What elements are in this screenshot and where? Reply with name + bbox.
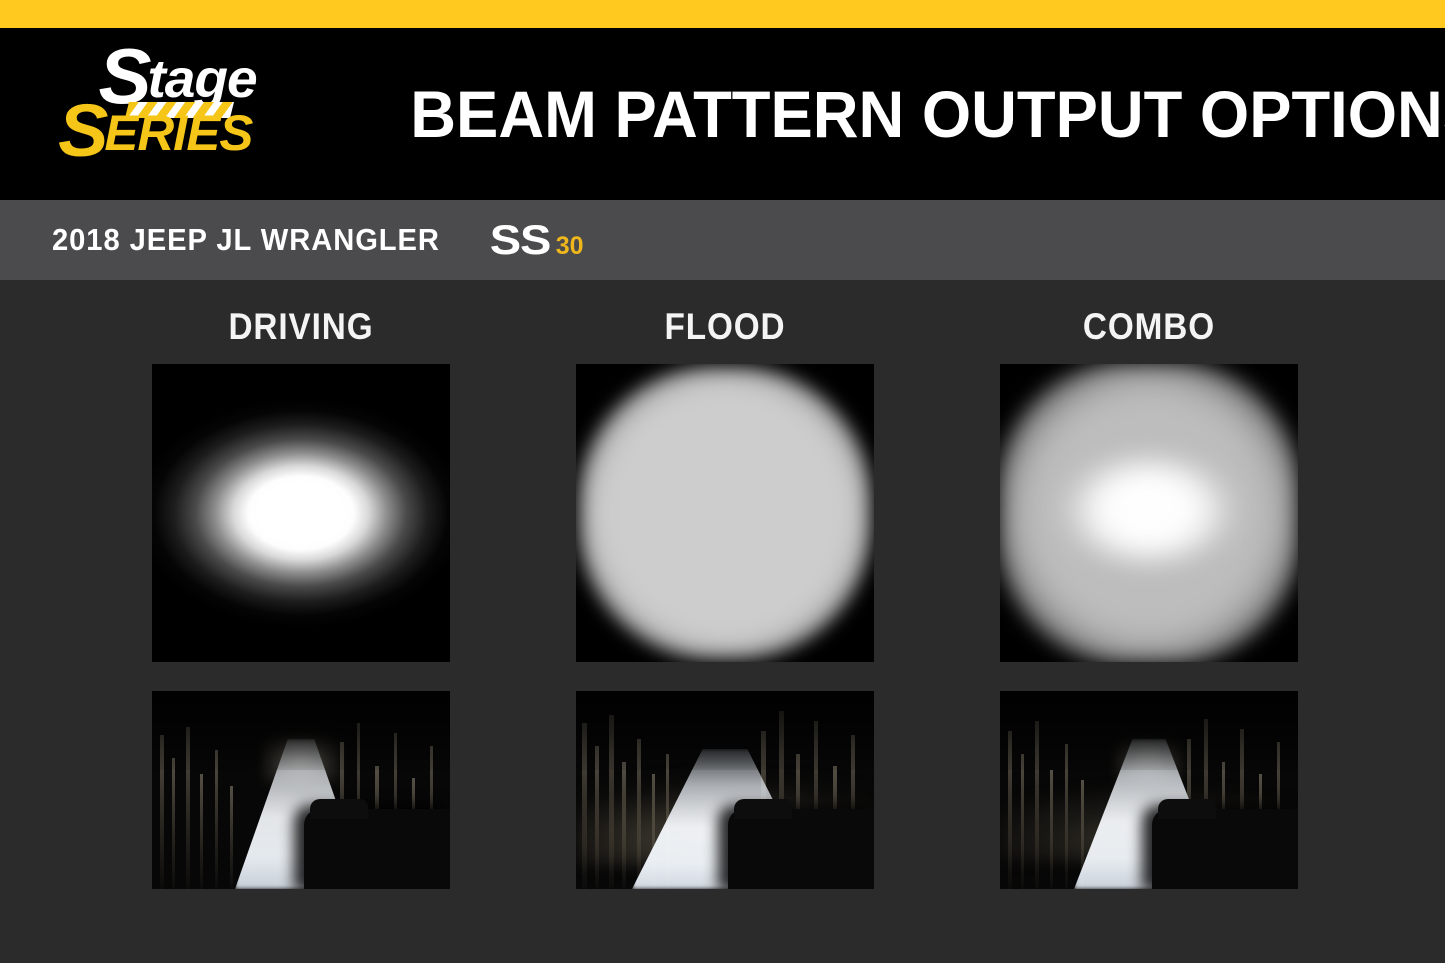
model-number: 30 bbox=[556, 232, 584, 261]
model-prefix: SS bbox=[489, 216, 550, 264]
beam-pattern-flood bbox=[576, 364, 874, 662]
road-photo-driving bbox=[152, 691, 450, 889]
model-badge: SS 30 bbox=[493, 216, 584, 264]
column-header-driving: DRIVING bbox=[167, 306, 435, 348]
tree-canopy-shadow bbox=[152, 691, 450, 770]
column-header-flood: FLOOD bbox=[591, 306, 859, 348]
photo-canvas bbox=[152, 691, 450, 889]
top-accent-bar bbox=[0, 0, 1445, 28]
photo-canvas bbox=[576, 691, 874, 889]
stage-series-logo: Stage SERIES bbox=[55, 46, 320, 171]
column-header-combo: COMBO bbox=[1015, 306, 1283, 348]
logo-series-capital: S bbox=[58, 89, 104, 172]
vehicle-hood bbox=[728, 809, 874, 889]
logo-series-rest: ERIES bbox=[104, 105, 252, 161]
road-photo-row bbox=[152, 691, 1298, 889]
beam-comparison-grid: DRIVING FLOOD COMBO bbox=[152, 306, 1298, 889]
vehicle-hood bbox=[1152, 809, 1298, 889]
vehicle-subtitle-bar: 2018 JEEP JL WRANGLER SS 30 bbox=[0, 200, 1445, 280]
logo-text-stage: Stage bbox=[98, 48, 256, 110]
comparison-body: DRIVING FLOOD COMBO bbox=[0, 280, 1445, 963]
column-header-row: DRIVING FLOOD COMBO bbox=[152, 306, 1298, 348]
beam-pattern-row bbox=[152, 364, 1298, 662]
vehicle-hood bbox=[304, 809, 450, 889]
beam-pattern-driving bbox=[152, 364, 450, 662]
vehicle-name: 2018 JEEP JL WRANGLER bbox=[52, 222, 440, 258]
road-photo-combo bbox=[1000, 691, 1298, 889]
tree-canopy-shadow bbox=[1000, 691, 1298, 770]
logo-text-series: SERIES bbox=[58, 104, 252, 162]
page-header: Stage SERIES BEAM PATTERN OUTPUT OPTIONS bbox=[0, 28, 1445, 200]
photo-canvas bbox=[1000, 691, 1298, 889]
road-photo-flood bbox=[576, 691, 874, 889]
beam-pattern-combo bbox=[1000, 364, 1298, 662]
page-title: BEAM PATTERN OUTPUT OPTIONS bbox=[410, 76, 1384, 152]
tree-canopy-shadow bbox=[576, 691, 874, 770]
logo-stage-rest: tage bbox=[147, 49, 256, 109]
